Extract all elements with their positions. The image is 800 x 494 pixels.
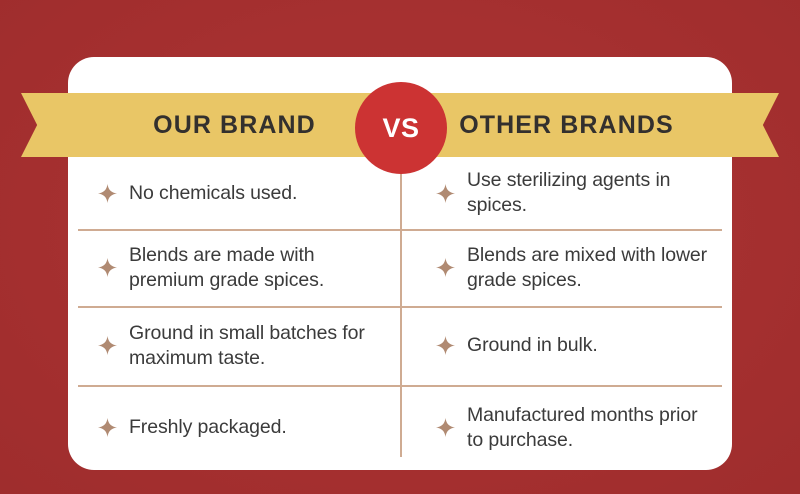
cell-text: Blends are mixed with lower grade spices… bbox=[467, 243, 716, 293]
table-row: Ground in small batches for maximum tast… bbox=[68, 306, 732, 385]
comparison-infographic: OUR BRAND OTHER BRANDS VS No chemicals u… bbox=[0, 0, 800, 494]
cell-text: No chemicals used. bbox=[129, 181, 297, 206]
cell-other-brands: Blends are mixed with lower grade spices… bbox=[400, 229, 732, 306]
sparkle-star-icon bbox=[436, 336, 455, 355]
cell-other-brands: Ground in bulk. bbox=[400, 306, 732, 385]
sparkle-star-icon bbox=[436, 258, 455, 277]
sparkle-star-icon bbox=[98, 418, 117, 437]
column-heading-our-brand: OUR BRAND bbox=[68, 93, 401, 157]
vs-badge: VS bbox=[355, 82, 447, 174]
cell-text: Use sterilizing agents in spices. bbox=[467, 168, 716, 218]
cell-other-brands: Manufactured months prior to purchase. bbox=[400, 385, 732, 470]
sparkle-star-icon bbox=[436, 184, 455, 203]
cell-text: Ground in small batches for maximum tast… bbox=[129, 321, 384, 371]
column-heading-other-brands: OTHER BRANDS bbox=[401, 93, 732, 157]
cell-other-brands: Use sterilizing agents in spices. bbox=[400, 157, 732, 229]
table-row: Freshly packaged. Manufactured months pr… bbox=[68, 385, 732, 470]
cell-our-brand: Blends are made with premium grade spice… bbox=[68, 229, 400, 306]
cell-text: Freshly packaged. bbox=[129, 415, 287, 440]
cell-text: Manufactured months prior to purchase. bbox=[467, 403, 716, 453]
vs-badge-label: VS bbox=[382, 113, 419, 144]
cell-our-brand: Ground in small batches for maximum tast… bbox=[68, 306, 400, 385]
cell-text: Blends are made with premium grade spice… bbox=[129, 243, 384, 293]
comparison-grid: No chemicals used. Use sterilizing agent… bbox=[68, 157, 732, 470]
sparkle-star-icon bbox=[98, 258, 117, 277]
table-row: Blends are made with premium grade spice… bbox=[68, 229, 732, 306]
cell-our-brand: No chemicals used. bbox=[68, 157, 400, 229]
sparkle-star-icon bbox=[98, 184, 117, 203]
sparkle-star-icon bbox=[98, 336, 117, 355]
cell-text: Ground in bulk. bbox=[467, 333, 598, 358]
sparkle-star-icon bbox=[436, 418, 455, 437]
cell-our-brand: Freshly packaged. bbox=[68, 385, 400, 470]
